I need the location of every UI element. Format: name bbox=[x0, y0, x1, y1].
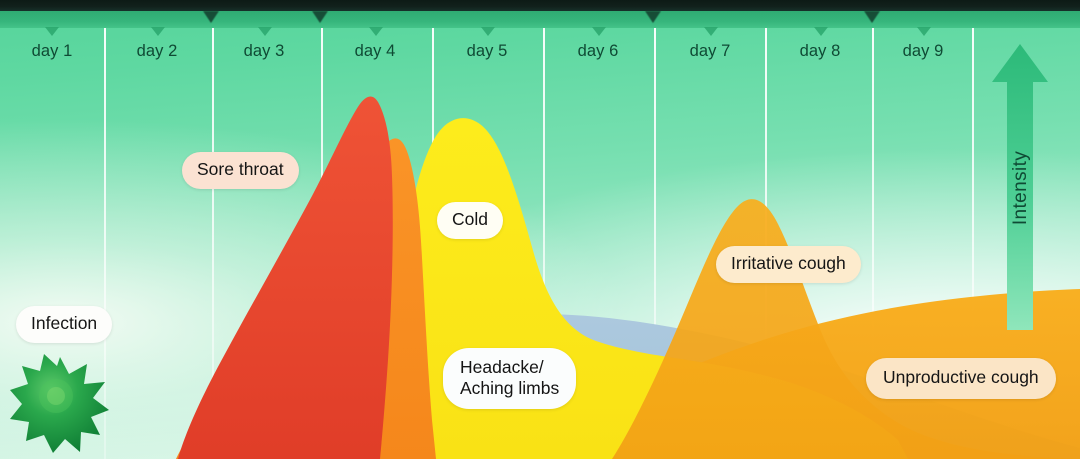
chrome-tick-c bbox=[645, 11, 661, 23]
label-infection: Infection bbox=[16, 306, 112, 343]
window-chrome-bar bbox=[0, 0, 1080, 11]
label-headache-aching-limbs: Headacke/ Aching limbs bbox=[443, 348, 576, 409]
label-unproductive-cough: Unproductive cough bbox=[866, 358, 1056, 399]
virus-particle-icon bbox=[10, 354, 109, 453]
infographic-canvas: day 1 day 2 day 3 day 4 day 5 day 6 day … bbox=[0, 0, 1080, 459]
intensity-axis-label: Intensity bbox=[1010, 151, 1032, 225]
label-cold: Cold bbox=[437, 202, 503, 239]
label-sore-throat: Sore throat bbox=[182, 152, 299, 189]
intensity-axis: Intensity bbox=[990, 38, 1052, 338]
label-irritative-cough: Irritative cough bbox=[716, 246, 861, 283]
chrome-tick-b bbox=[312, 11, 328, 23]
chrome-tick-d bbox=[864, 11, 880, 23]
curve-sore-throat bbox=[178, 96, 393, 459]
chrome-tick-a bbox=[203, 11, 219, 23]
